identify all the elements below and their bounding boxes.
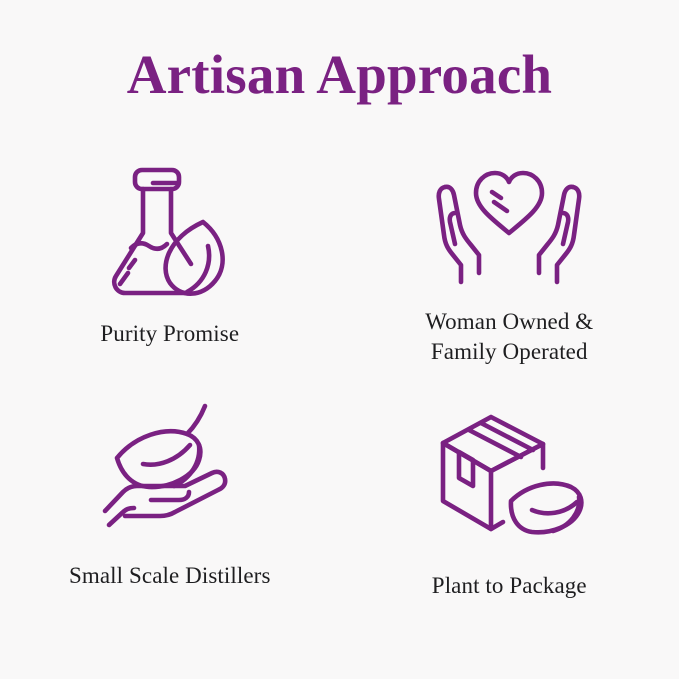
feature-grid: Purity Promise <box>0 155 679 655</box>
feature-item-plant-to-package: Plant to Package <box>340 399 679 629</box>
flask-leaf-icon <box>90 155 250 305</box>
box-leaf-icon <box>429 399 589 549</box>
feature-label: Small Scale Distillers <box>69 561 271 591</box>
artisan-approach-panel: Artisan Approach <box>0 0 679 679</box>
feature-label: Woman Owned & Family Operated <box>425 307 593 368</box>
feature-item-woman-owned: Woman Owned & Family Operated <box>340 155 679 385</box>
feature-item-purity-promise: Purity Promise <box>0 155 340 385</box>
leaf-in-hand-icon <box>90 399 250 539</box>
hands-heart-icon <box>429 155 589 295</box>
page-title: Artisan Approach <box>0 46 679 104</box>
feature-item-small-scale-distillers: Small Scale Distillers <box>0 399 340 629</box>
feature-label: Purity Promise <box>100 319 239 349</box>
feature-label: Plant to Package <box>432 571 587 601</box>
